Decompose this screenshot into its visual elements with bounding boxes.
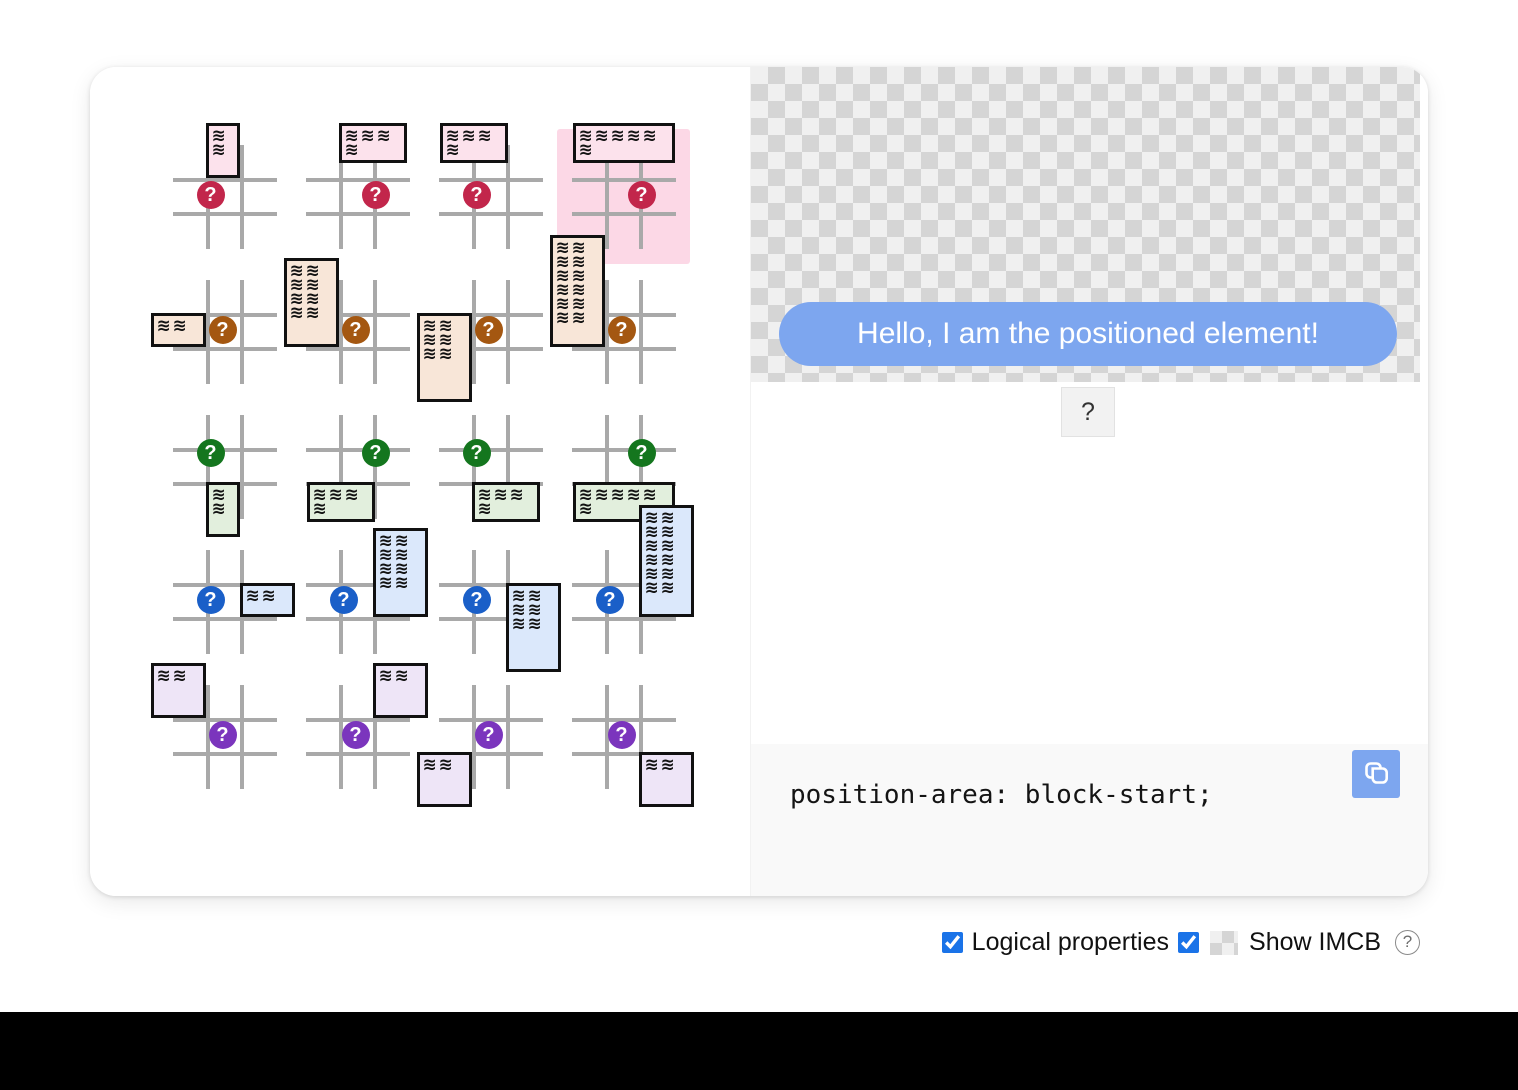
positioned-box-glyph: ≋≋: [206, 482, 240, 537]
position-area-diagram: ≋≋≋≋≋≋≋≋≋≋≋≋?: [572, 280, 676, 384]
position-area-option-inline-end-4[interactable]: ≋≋≋≋≋≋≋≋≋≋≋≋?: [557, 534, 690, 669]
position-area-diagram: ≋≋?: [173, 415, 277, 519]
position-area-diagram: ≋≋?: [572, 685, 676, 789]
copy-icon: [1362, 759, 1390, 790]
squiggle-glyph: ≋: [645, 758, 661, 772]
position-area-option-inline-end-3[interactable]: ≋≋≋≋≋≋?: [424, 534, 557, 669]
grid-line-h1: [439, 178, 543, 182]
anchor-dot-icon: ?: [342, 316, 370, 344]
squiggle-glyph: ≋: [572, 311, 588, 325]
anchor-dot-icon: ?: [463, 181, 491, 209]
position-area-diagram: ≋≋≋≋?: [306, 415, 410, 519]
squiggle-glyph: ≋: [313, 502, 329, 516]
squiggle-glyph: ≋: [439, 758, 455, 772]
grid-line-v2: [240, 280, 244, 384]
squiggle-glyph: ≋: [173, 319, 189, 333]
squiggle-glyph: ≋: [478, 502, 494, 516]
grid-line-h1: [306, 448, 410, 452]
anchor-dot-icon: ?: [608, 316, 636, 344]
position-area-diagram: ≋≋?: [173, 685, 277, 789]
positioned-box-glyph: ≋≋≋≋: [440, 123, 508, 163]
grid-line-v2: [506, 280, 510, 384]
position-area-option-block-start-1[interactable]: ≋≋?: [158, 129, 291, 264]
positioned-box-glyph: ≋≋≋≋≋≋≋≋: [373, 528, 428, 617]
grid-line-v2: [639, 280, 643, 384]
position-area-diagram: ≋≋≋≋?: [439, 145, 543, 249]
squiggle-glyph: ≋: [595, 488, 611, 502]
grid-line-h1: [439, 448, 543, 452]
squiggle-glyph: ≋: [345, 488, 361, 502]
squiggle-glyph: ≋: [645, 581, 661, 595]
position-area-option-corners-2[interactable]: ≋≋?: [291, 669, 424, 804]
squiggle-glyph: ≋: [446, 143, 462, 157]
logical-properties-checkbox[interactable]: [942, 932, 963, 953]
position-area-diagram: ≋≋≋≋?: [306, 145, 410, 249]
grid-line-v2: [506, 685, 510, 789]
position-area-diagram: ≋≋?: [173, 145, 277, 249]
position-area-diagram: ≋≋?: [439, 685, 543, 789]
anchor-dot-icon: ?: [475, 721, 503, 749]
position-area-diagram: ≋≋?: [173, 280, 277, 384]
squiggle-glyph: ≋: [212, 143, 228, 157]
anchor-dot-icon: ?: [197, 586, 225, 614]
squiggle-glyph: ≋: [627, 488, 643, 502]
grid-line-h2: [306, 617, 410, 621]
position-area-diagram: ≋≋≋≋≋≋≋≋?: [306, 280, 410, 384]
squiggle-glyph: ≋: [157, 669, 173, 683]
show-imcb-checkbox[interactable]: [1178, 932, 1199, 953]
anchor-dot-icon: ?: [475, 316, 503, 344]
squiggle-glyph: ≋: [377, 129, 393, 143]
squiggle-glyph: ≋: [611, 129, 627, 143]
position-area-option-block-end-1[interactable]: ≋≋?: [158, 399, 291, 534]
grid-line-v2: [240, 415, 244, 519]
squiggle-glyph: ≋: [395, 669, 411, 683]
position-area-diagram: ≋≋≋≋≋≋?: [572, 415, 676, 519]
squiggle-glyph: ≋: [262, 589, 278, 603]
grid-line-h1: [173, 178, 277, 182]
anchor-dot-icon: ?: [209, 721, 237, 749]
code-panel: position-area: block-start;: [751, 744, 1428, 896]
positioned-box-glyph: ≋≋: [206, 123, 240, 178]
code-snippet: position-area: block-start;: [790, 780, 1213, 810]
position-area-diagram: ≋≋?: [173, 550, 277, 654]
position-area-option-inline-end-1[interactable]: ≋≋?: [158, 534, 291, 669]
positioned-box-glyph: ≋≋≋≋≋≋≋≋: [284, 258, 339, 347]
squiggle-glyph: ≋: [661, 758, 677, 772]
positioned-box-glyph: ≋≋≋≋≋≋: [506, 583, 561, 672]
copy-button[interactable]: [1352, 750, 1400, 798]
positioned-box-glyph: ≋≋: [151, 313, 206, 347]
position-area-diagram: ≋≋≋≋?: [439, 415, 543, 519]
anchor-dot-icon: ?: [197, 181, 225, 209]
positioned-box-glyph: ≋≋≋≋≋≋: [573, 123, 675, 163]
squiggle-glyph: ≋: [579, 143, 595, 157]
position-area-option-inline-start-4[interactable]: ≋≋≋≋≋≋≋≋≋≋≋≋?: [557, 264, 690, 399]
grid-line-h2: [306, 752, 410, 756]
visualizer-card: ≋≋?≋≋≋≋?≋≋≋≋?≋≋≋≋≋≋?≋≋?≋≋≋≋≋≋≋≋?≋≋≋≋≋≋?≋…: [90, 67, 1428, 896]
grid-line-h2: [572, 347, 676, 351]
squiggle-glyph: ≋: [579, 502, 595, 516]
position-area-diagram: ≋≋≋≋≋≋?: [439, 280, 543, 384]
squiggle-glyph: ≋: [512, 617, 528, 631]
anchor-dot-icon: ?: [463, 439, 491, 467]
grid-line-h2: [572, 212, 676, 216]
squiggle-glyph: ≋: [528, 617, 544, 631]
preview-panel: Hello, I am the positioned element! ? po…: [750, 67, 1428, 896]
squiggle-glyph: ≋: [395, 576, 411, 590]
help-icon[interactable]: ?: [1395, 930, 1420, 955]
squiggle-glyph: ≋: [494, 488, 510, 502]
anchor-dot-icon: ?: [596, 586, 624, 614]
position-area-option-block-start-2[interactable]: ≋≋≋≋?: [291, 129, 424, 264]
anchor-dot-icon: ?: [362, 439, 390, 467]
position-area-option-inline-start-2[interactable]: ≋≋≋≋≋≋≋≋?: [291, 264, 424, 399]
grid-line-h2: [173, 212, 277, 216]
squiggle-glyph: ≋: [345, 143, 361, 157]
grid-line-h1: [173, 448, 277, 452]
anchor-dot-icon: ?: [197, 439, 225, 467]
position-area-diagram: ≋≋≋≋≋≋≋≋?: [306, 550, 410, 654]
position-area-diagram: ≋≋≋≋≋≋?: [572, 145, 676, 249]
position-area-diagram: ≋≋≋≋≋≋≋≋≋≋≋≋?: [572, 550, 676, 654]
position-area-diagram: ≋≋?: [306, 685, 410, 789]
grid-line-h1: [572, 178, 676, 182]
grid-line-v2: [373, 280, 377, 384]
squiggle-glyph: ≋: [627, 129, 643, 143]
positioned-box-glyph: ≋≋: [240, 583, 295, 617]
position-area-option-corners-4[interactable]: ≋≋?: [557, 669, 690, 804]
squiggle-glyph: ≋: [306, 306, 322, 320]
anchor-dot-icon: ?: [628, 439, 656, 467]
positioned-box-glyph: ≋≋≋≋≋≋≋≋≋≋≋≋: [639, 505, 694, 617]
grid-line-h2: [572, 617, 676, 621]
positioned-element-bubble: Hello, I am the positioned element!: [779, 302, 1397, 366]
position-area-grid-panel: ≋≋?≋≋≋≋?≋≋≋≋?≋≋≋≋≋≋?≋≋?≋≋≋≋≋≋≋≋?≋≋≋≋≋≋?≋…: [90, 67, 750, 896]
grid-line-h1: [306, 178, 410, 182]
squiggle-glyph: ≋: [556, 311, 572, 325]
positioned-box-glyph: ≋≋: [373, 663, 428, 718]
squiggle-glyph: ≋: [595, 129, 611, 143]
position-area-option-corners-3[interactable]: ≋≋?: [424, 669, 557, 804]
squiggle-glyph: ≋: [379, 669, 395, 683]
squiggle-glyph: ≋: [157, 319, 173, 333]
show-imcb-label[interactable]: Show IMCB: [1249, 928, 1381, 957]
positioned-box-glyph: ≋≋≋≋≋≋≋≋≋≋≋≋: [550, 235, 605, 347]
anchor-dot-icon: ?: [209, 316, 237, 344]
grid-line-h2: [306, 347, 410, 351]
squiggle-glyph: ≋: [212, 502, 228, 516]
grid-line-h1: [572, 448, 676, 452]
anchor-dot-icon: ?: [342, 721, 370, 749]
squiggle-glyph: ≋: [361, 129, 377, 143]
squiggle-glyph: ≋: [510, 488, 526, 502]
squiggle-glyph: ≋: [643, 488, 659, 502]
grid-line-h2: [173, 347, 277, 351]
squiggle-glyph: ≋: [462, 129, 478, 143]
squiggle-glyph: ≋: [643, 129, 659, 143]
logical-properties-label[interactable]: Logical properties: [972, 928, 1169, 957]
grid-line-h2: [173, 617, 277, 621]
position-area-option-block-end-3[interactable]: ≋≋≋≋?: [424, 399, 557, 534]
position-area-option-inline-start-3[interactable]: ≋≋≋≋≋≋?: [424, 264, 557, 399]
positioned-box-glyph: ≋≋≋≋: [307, 482, 375, 522]
imcb-swatch-icon: [1210, 931, 1238, 955]
squiggle-glyph: ≋: [379, 576, 395, 590]
grid-line-h2: [173, 752, 277, 756]
positioned-box-glyph: ≋≋≋≋≋≋: [417, 313, 472, 402]
squiggle-glyph: ≋: [173, 669, 189, 683]
squiggle-glyph: ≋: [423, 347, 439, 361]
anchor-element-box: ?: [1061, 387, 1115, 437]
position-area-grid: ≋≋?≋≋≋≋?≋≋≋≋?≋≋≋≋≋≋?≋≋?≋≋≋≋≋≋≋≋?≋≋≋≋≋≋?≋…: [158, 129, 690, 804]
grid-line-h2: [439, 212, 543, 216]
anchor-dot-icon: ?: [628, 181, 656, 209]
position-area-option-block-start-3[interactable]: ≋≋≋≋?: [424, 129, 557, 264]
positioned-box-glyph: ≋≋: [417, 752, 472, 807]
squiggle-glyph: ≋: [478, 129, 494, 143]
squiggle-glyph: ≋: [329, 488, 345, 502]
position-area-option-inline-end-2[interactable]: ≋≋≋≋≋≋≋≋?: [291, 534, 424, 669]
grid-line-v2: [240, 685, 244, 789]
positioned-box-glyph: ≋≋: [151, 663, 206, 718]
position-area-option-corners-1[interactable]: ≋≋?: [158, 669, 291, 804]
anchor-dot-icon: ?: [330, 586, 358, 614]
position-area-option-block-end-2[interactable]: ≋≋≋≋?: [291, 399, 424, 534]
controls-row: Logical properties Show IMCB ?: [942, 928, 1420, 957]
bottom-bar: [0, 1012, 1518, 1090]
anchor-dot-icon: ?: [608, 721, 636, 749]
squiggle-glyph: ≋: [423, 758, 439, 772]
squiggle-glyph: ≋: [661, 581, 677, 595]
grid-line-v2: [240, 145, 244, 249]
positioned-box-glyph: ≋≋≋≋: [339, 123, 407, 163]
positioned-box-glyph: ≋≋≋≋: [472, 482, 540, 522]
grid-line-h2: [306, 212, 410, 216]
squiggle-glyph: ≋: [290, 306, 306, 320]
position-area-diagram: ≋≋≋≋≋≋?: [439, 550, 543, 654]
positioned-box-glyph: ≋≋: [639, 752, 694, 807]
position-area-option-inline-start-1[interactable]: ≋≋?: [158, 264, 291, 399]
squiggle-glyph: ≋: [611, 488, 627, 502]
squiggle-glyph: ≋: [246, 589, 262, 603]
squiggle-glyph: ≋: [439, 347, 455, 361]
anchor-dot-icon: ?: [463, 586, 491, 614]
anchor-dot-icon: ?: [362, 181, 390, 209]
